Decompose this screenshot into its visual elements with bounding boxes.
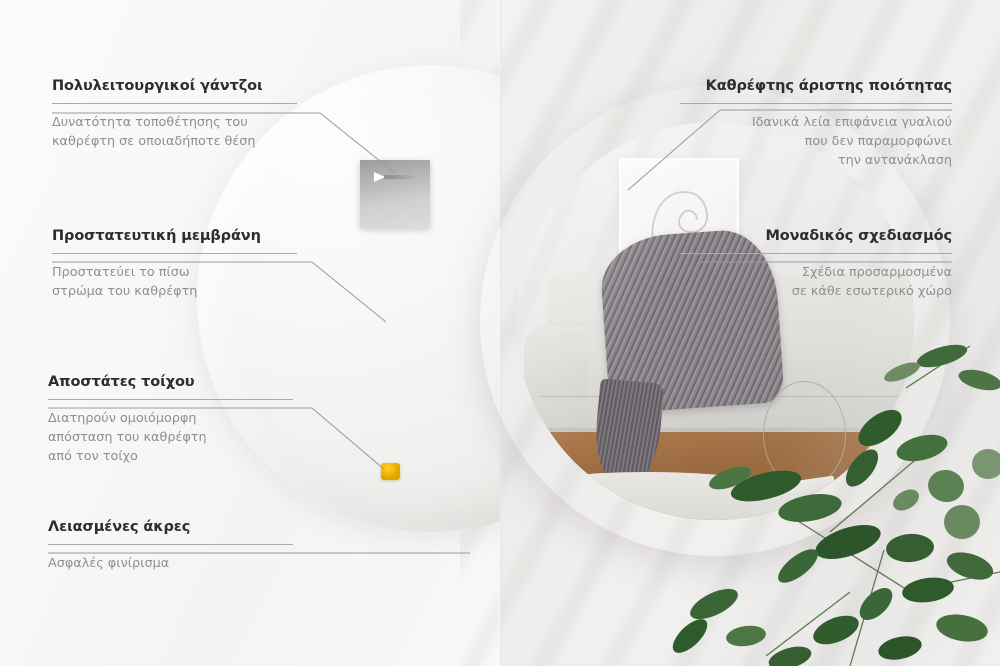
callout-title: Πολυλειτουργικοί γάντζοι [52,78,297,94]
callout-description: Δυνατότητα τοποθέτησης του καθρέφτη σε ο… [52,114,297,152]
wall-spacer-icon [381,463,400,480]
reflected-decor-hoop [763,381,847,488]
callout-title: Καθρέφτης άριστης ποιότητας [680,78,952,94]
mirror-front-view [488,86,676,556]
callout-rule [48,399,293,400]
callout-description: Προστατεύει το πίσω στρώμα του καθρέφτη [52,264,297,302]
callout-description: Ασφαλές φινίρισμα [48,555,293,574]
callout-top-quality-mirror: Καθρέφτης άριστης ποιότητας Ιδανικά λεία… [680,78,952,171]
mirror-glass-reflection [516,122,914,520]
hook-bar-icon [384,175,414,179]
callout-description: Διατηρούν ομοιόμορφη απόσταση του καθρέφ… [48,410,293,467]
callout-title: Αποστάτες τοίχου [48,374,293,390]
callout-rule [52,253,297,254]
callout-title: Λειασμένες άκρες [48,519,293,535]
callout-description: Ιδανικά λεία επιφάνεια γυαλιού που δεν π… [680,114,952,171]
callout-description: Σχέδια προσαρμοσμένα σε κάθε εσωτερικό χ… [680,264,952,302]
callout-rule [52,103,297,104]
reflected-sofa-arm [524,333,588,401]
callout-rule [680,253,952,254]
callout-unique-design: Μοναδικός σχεδιασμός Σχέδια προσαρμοσμέν… [680,228,952,302]
callout-polished-edges: Λειασμένες άκρες Ασφαλές φινίρισμα [48,519,293,574]
mirror-hanging-hook-icon [360,160,430,228]
callout-multifunctional-hooks: Πολυλειτουργικοί γάντζοι Δυνατότητα τοπο… [52,78,297,152]
callout-rule [680,103,952,104]
hook-slot [374,172,414,182]
callout-wall-spacers: Αποστάτες τοίχου Διατηρούν ομοιόμορφη απ… [48,374,293,467]
callout-rule [48,544,293,545]
reflected-rug [516,472,803,520]
product-feature-infographic: Πολυλειτουργικοί γάντζοι Δυνατότητα τοπο… [0,0,1000,666]
callout-protective-membrane: Προστατευτική μεμβράνη Προστατεύει το πί… [52,228,297,302]
callout-title: Προστατευτική μεμβράνη [52,228,297,244]
callout-title: Μοναδικός σχεδιασμός [680,228,952,244]
